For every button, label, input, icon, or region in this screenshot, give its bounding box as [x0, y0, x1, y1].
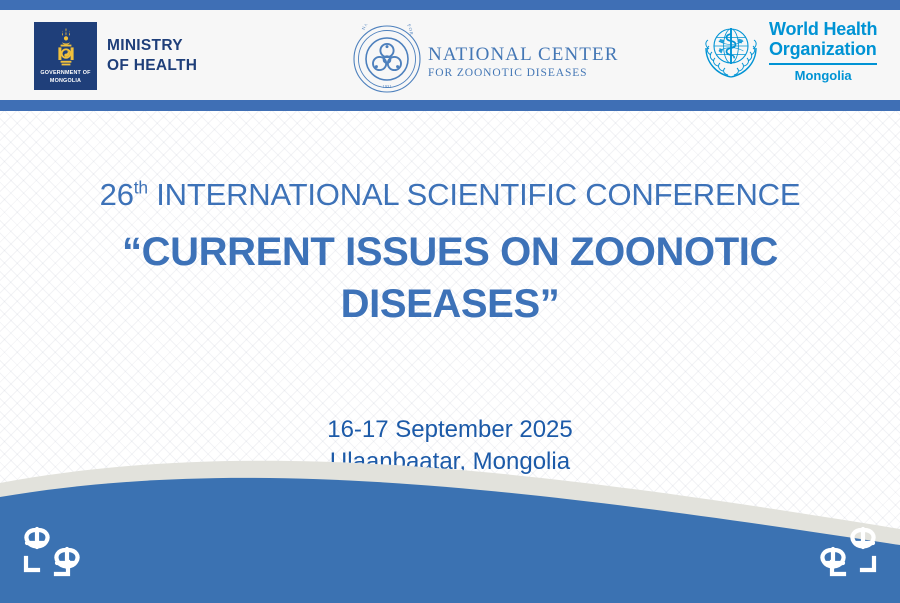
- who-name-line-2: Organization: [769, 40, 877, 60]
- svg-text:1931: 1931: [382, 84, 392, 89]
- mongolian-ulzii-knot-icon: [16, 522, 90, 589]
- ministry-of-health-logo: GOVERNMENT OF MONGOLIA MINISTRY OF HEALT…: [34, 22, 197, 90]
- conference-theme: “CURRENT ISSUES ON ZOONOTIC DISEASES”: [0, 226, 900, 330]
- header-divider-bar: [0, 100, 900, 111]
- event-dates: 16-17 September 2025: [0, 414, 900, 446]
- who-emblem-icon: [700, 20, 762, 87]
- conference-theme-line-1: “CURRENT ISSUES ON ZOONOTIC: [0, 226, 900, 278]
- mongolian-ulzii-knot-icon: [810, 522, 884, 589]
- conference-ordinal-suffix: th: [134, 178, 148, 198]
- crest-caption: GOVERNMENT OF MONGOLIA: [34, 70, 97, 85]
- title-block: 26th INTERNATIONAL SCIENTIFIC CONFERENCE…: [0, 172, 900, 330]
- bottom-wave-decoration: [0, 443, 900, 603]
- who-mongolia-logo: World Health Organization Mongolia: [700, 20, 877, 87]
- biohazard-seal-icon: NATIONAL CENTER FOR ZOONOTIC 1931: [352, 24, 422, 99]
- crest-line-2: MONGOLIA: [34, 78, 97, 86]
- who-wordmark: World Health Organization Mongolia: [769, 20, 877, 83]
- who-name-line-1: World Health: [769, 20, 877, 40]
- conference-label: INTERNATIONAL SCIENTIFIC CONFERENCE: [156, 177, 800, 212]
- wave-blue-layer: [0, 478, 900, 603]
- ncz-name-line-1: NATIONAL CENTER: [428, 44, 618, 66]
- conference-title-slide: GOVERNMENT OF MONGOLIA MINISTRY OF HEALT…: [0, 0, 900, 603]
- conference-edition-line: 26th INTERNATIONAL SCIENTIFIC CONFERENCE: [0, 172, 900, 218]
- ministry-name-line-1: MINISTRY: [107, 36, 197, 56]
- who-country-label: Mongolia: [769, 68, 877, 83]
- conference-number: 26: [100, 177, 134, 212]
- conference-theme-line-2: DISEASES”: [0, 278, 900, 330]
- ncz-wordmark: NATIONAL CENTER FOR ZOONOTIC DISEASES: [428, 44, 618, 80]
- mongolia-state-emblem-icon: GOVERNMENT OF MONGOLIA: [34, 22, 97, 90]
- soyombo-symbol-icon: [49, 26, 83, 75]
- crest-line-1: GOVERNMENT OF: [34, 70, 97, 78]
- national-center-zoonotic-diseases-logo: NATIONAL CENTER FOR ZOONOTIC 1931 NATION…: [352, 24, 618, 99]
- ministry-of-health-wordmark: MINISTRY OF HEALTH: [107, 36, 197, 76]
- who-divider: [769, 63, 877, 65]
- ncz-name-line-2: FOR ZOONOTIC DISEASES: [428, 66, 618, 80]
- ministry-name-line-2: OF HEALTH: [107, 56, 197, 76]
- top-accent-bar: [0, 0, 900, 10]
